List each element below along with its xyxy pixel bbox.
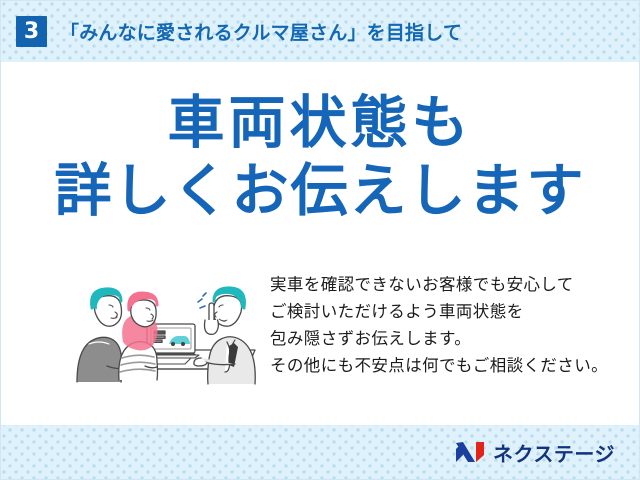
section-number-badge: 3 — [16, 16, 47, 47]
header-bar: 3 「みんなに愛されるクルマ屋さん」を目指して — [1, 1, 639, 62]
n-logo-icon — [455, 441, 485, 463]
body-paragraph: 実車を確認できないお客様でも安心して ご検討いただけるよう車両状態を 包み隠さず… — [270, 272, 639, 380]
body-line-2: ご検討いただけるよう車両状態を — [270, 299, 639, 326]
brand-name: ネクステージ — [493, 438, 615, 467]
brand-logo: ネクステージ — [455, 438, 615, 467]
body-line-1: 実車を確認できないお客様でも安心して — [270, 272, 639, 299]
body-line-4: その他にも不安点は何でもご相談ください。 — [270, 353, 639, 380]
body-line-3: 包み隠さずお伝えします。 — [270, 326, 639, 353]
main-panel: 車両状態も 詳しくお伝えします — [1, 62, 639, 425]
footer-bar: ネクステージ — [1, 425, 639, 479]
page-title: 車両状態も 詳しくお伝えします — [1, 90, 639, 226]
advertisement-banner: 3 「みんなに愛されるクルマ屋さん」を目指して 車両状態も 詳しくお伝えします — [0, 0, 640, 480]
headline-line-2: 詳しくお伝えします — [1, 156, 639, 226]
customer-consultation-illustration — [59, 272, 264, 392]
headline-line-1: 車両状態も — [1, 90, 639, 156]
header-title: 「みんなに愛されるクルマ屋さん」を目指して — [60, 18, 462, 45]
content-row: 実車を確認できないお客様でも安心して ご検討いただけるよう車両状態を 包み隠さず… — [1, 272, 639, 402]
